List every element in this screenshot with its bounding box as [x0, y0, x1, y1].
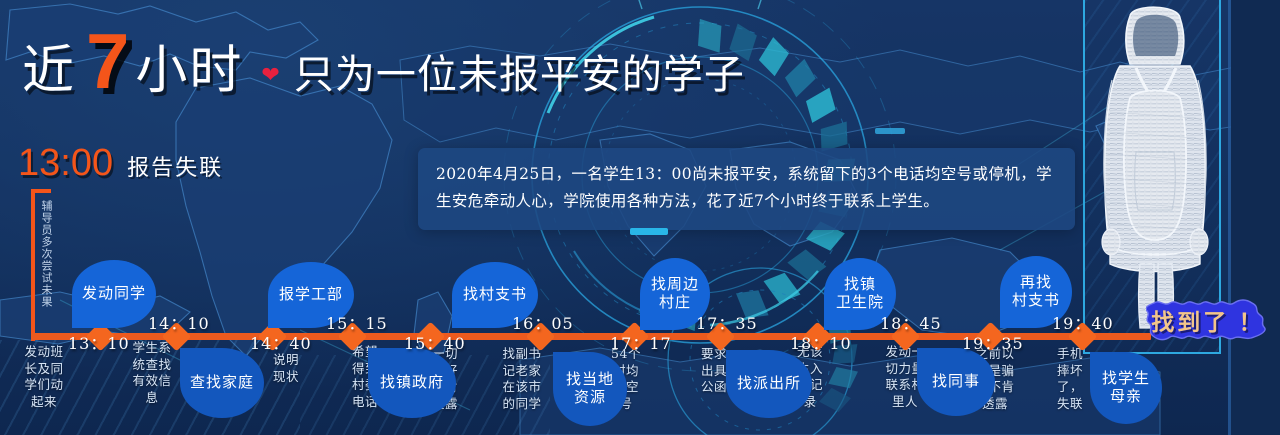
timeline-time-label: 16：05 — [512, 310, 574, 334]
timeline-note: 说明 现状 — [258, 352, 314, 385]
right-panel-divider — [1228, 0, 1231, 435]
timeline-time-label: 18：45 — [880, 310, 942, 334]
start-bracket-note: 辅导员多次尝试未果 — [30, 200, 52, 308]
headline-unit: 小时 — [135, 28, 243, 103]
timeline-action-label: 找镇政府 — [380, 374, 444, 392]
timeline-time-label: 15：15 — [326, 310, 388, 334]
timeline-time-label: 17：17 — [610, 330, 672, 354]
timeline-action-bubble[interactable]: 找学生 母亲 — [1090, 352, 1162, 424]
description-text: 2020年4月25日，一名学生13：00尚未报平安，系统留下的3个电话均空号或停… — [436, 161, 1057, 215]
timeline-action-label: 找村支书 — [463, 286, 527, 304]
decorative-tick — [875, 128, 905, 134]
page-title: 近 7 小时 ❤ 只为一位未报平安的学子 — [22, 28, 745, 103]
timeline-note: 找副书 记老家 在该市 的同学 — [494, 346, 550, 412]
timeline-action-label: 报学工部 — [279, 286, 343, 304]
timeline-time-label: 14：10 — [148, 310, 210, 334]
start-time-group: 13:00 报告失联 — [18, 142, 223, 185]
timeline-action-label: 找学生 母亲 — [1102, 370, 1150, 407]
found-badge-label: 找到了 ！ — [1146, 297, 1270, 343]
timeline-time-label: 13：10 — [68, 330, 130, 354]
timeline-note: 手机 摔坏 了， 失联 — [1046, 346, 1094, 412]
infographic-canvas: .cont{fill:#1b3e73;stroke:#3f7fc0;stroke… — [0, 0, 1280, 435]
found-badge[interactable]: 找到了 ！ — [1146, 297, 1270, 348]
timeline-action-label: 找同事 — [932, 373, 980, 391]
timeline-action-label: 找派出所 — [737, 375, 801, 393]
headline-prefix: 近 — [22, 28, 76, 103]
timeline-time-label: 17：35 — [696, 310, 758, 334]
timeline-action-bubble[interactable]: 发动同学 — [72, 260, 156, 328]
timeline-action-label: 查找家庭 — [190, 374, 254, 392]
headline-hours-number: 7 — [86, 30, 129, 92]
timeline-action-label: 找当地 资源 — [566, 371, 614, 408]
timeline-action-label: 发动同学 — [82, 285, 146, 303]
start-time-value: 13:00 — [18, 142, 113, 185]
timeline-time-label: 14：40 — [250, 330, 312, 354]
right-panel-fill — [1231, 0, 1280, 435]
headline-subtitle: 只为一位未报平安的学子 — [294, 42, 745, 100]
timeline-time-label: 15：40 — [404, 330, 466, 354]
timeline-time-label: 19：35 — [962, 330, 1024, 354]
timeline-action-bubble[interactable]: 查找家庭 — [180, 348, 264, 418]
student-with-backpack-illustration — [1096, 2, 1214, 332]
description-box: 2020年4月25日，一名学生13：00尚未报平安，系统留下的3个电话均空号或停… — [418, 148, 1075, 230]
timeline-action-bubble[interactable]: 找派出所 — [726, 350, 812, 418]
timeline-action-bubble[interactable]: 找同事 — [917, 348, 995, 416]
timeline-time-label: 18：10 — [790, 330, 852, 354]
timeline-action-label: 找周边 村庄 — [651, 276, 699, 313]
heart-icon: ❤ — [261, 62, 279, 88]
description-underline-tick — [630, 228, 668, 235]
start-time-label: 报告失联 — [127, 150, 223, 182]
timeline-time-label: 19：40 — [1052, 310, 1114, 334]
timeline-action-bubble[interactable]: 找当地 资源 — [553, 352, 627, 426]
timeline-action-label: 找镇 卫生院 — [836, 276, 884, 313]
timeline-action-bubble[interactable]: 找镇政府 — [368, 348, 456, 418]
timeline-action-label: 再找 村支书 — [1012, 274, 1060, 311]
